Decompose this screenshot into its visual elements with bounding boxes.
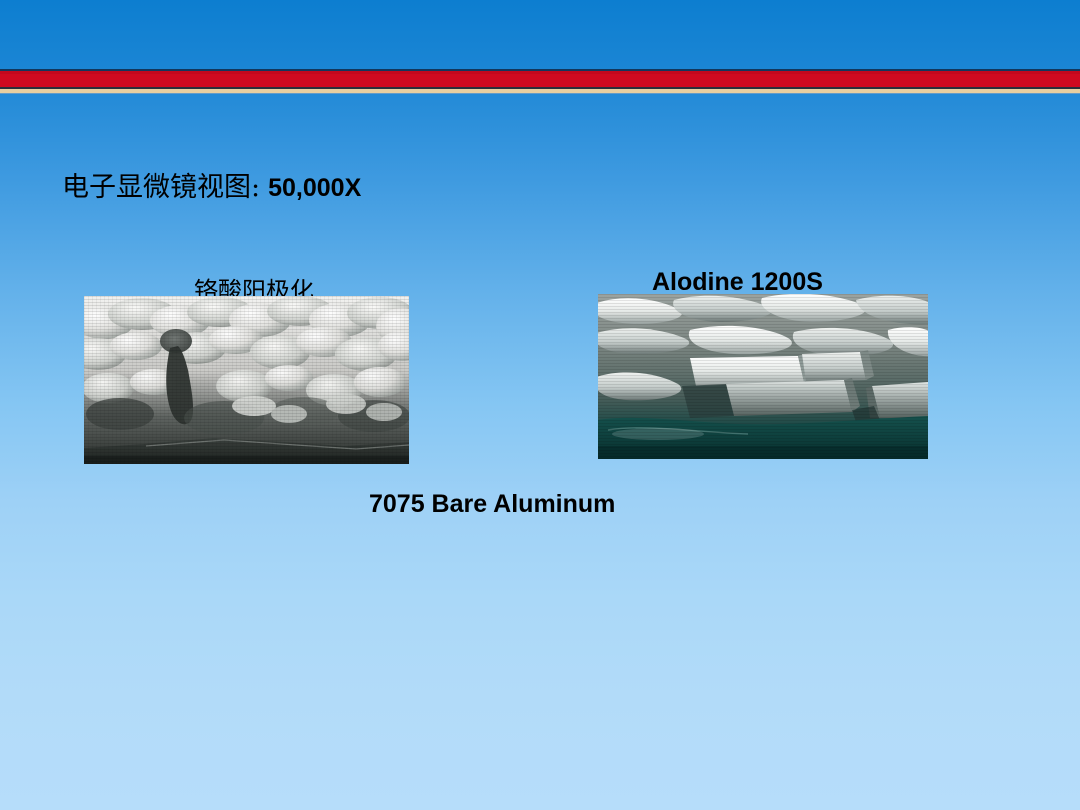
sem-micrograph-chromic-acid-anodize [84, 296, 409, 464]
header-band-bottom-rule [0, 93, 1080, 94]
panel-label-alodine-1200s: Alodine 1200S [652, 268, 823, 297]
header-band-red-shade [0, 71, 1080, 74]
page-title-cjk: 电子显微镜视图: [62, 172, 260, 203]
sem-left-artwork [84, 296, 409, 464]
page-title: 电子显微镜视图:50,000X [62, 170, 361, 205]
page-title-magnification: 50,000X [268, 174, 361, 202]
sem-right-artwork [598, 294, 928, 459]
sem-micrograph-alodine-1200s [598, 294, 928, 459]
slide-canvas: 电子显微镜视图:50,000X 铬酸阳极化 Alodine 1200S [0, 0, 1080, 810]
slide-caption: 7075 Bare Aluminum [369, 490, 615, 519]
